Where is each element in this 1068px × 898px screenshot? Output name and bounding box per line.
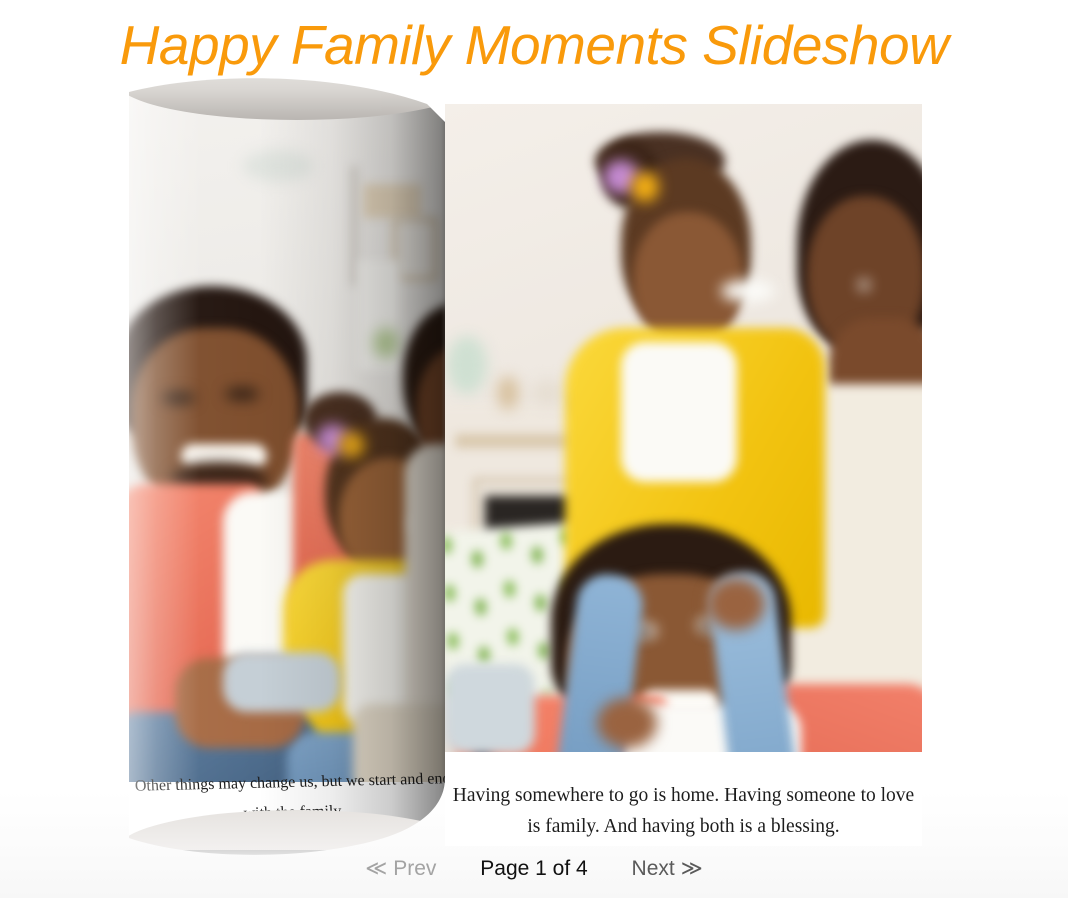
slideshow-stage: Happy Family Moments Slideshow	[0, 0, 1068, 898]
left-page-caption: Other things may change us, but we start…	[127, 764, 457, 832]
book-spread: Having somewhere to go is home. Having s…	[127, 78, 922, 850]
prev-button-label: Prev	[393, 857, 436, 880]
left-page-photo	[127, 92, 457, 782]
next-button[interactable]: Next≫	[622, 855, 707, 883]
chevron-left-icon: ≪	[365, 857, 387, 880]
prev-button[interactable]: ≪Prev	[361, 855, 446, 883]
page-indicator: Page 1 of 4	[478, 855, 589, 883]
right-page-photo	[445, 104, 922, 752]
slide-page-left[interactable]: Other things may change us, but we start…	[127, 78, 457, 850]
page-title: Happy Family Moments Slideshow	[0, 10, 1068, 80]
chevron-right-icon: ≫	[681, 857, 703, 880]
slide-page-right[interactable]: Having somewhere to go is home. Having s…	[445, 104, 922, 846]
right-page-caption: Having somewhere to go is home. Having s…	[445, 780, 922, 842]
next-button-label: Next	[632, 857, 675, 880]
slideshow-navigation: ≪Prev Page 1 of 4 Next≫	[0, 855, 1068, 883]
